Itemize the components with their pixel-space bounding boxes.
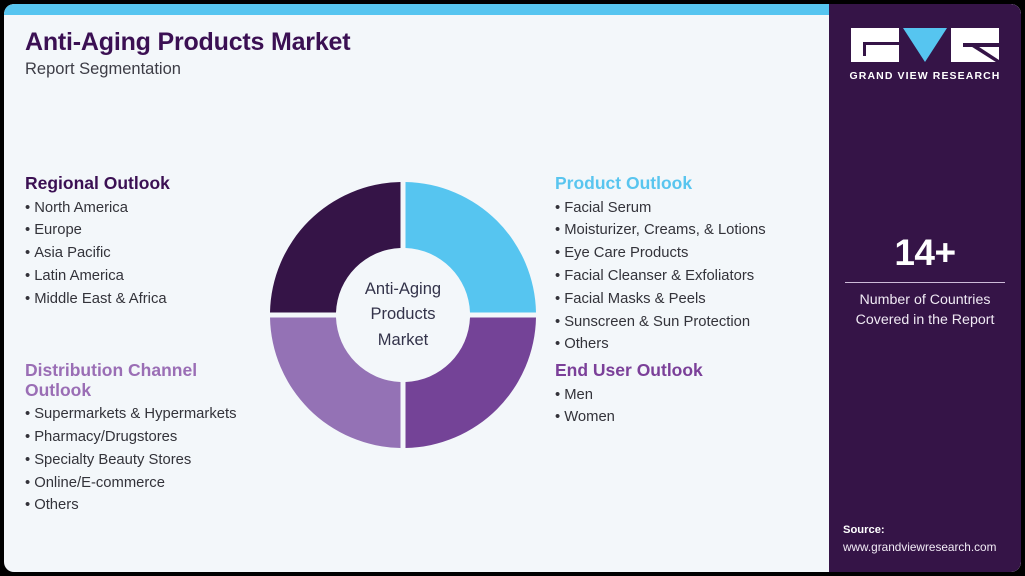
list-item-label: Pharmacy/Drugstores (34, 429, 177, 445)
donut-chart-svg (262, 174, 544, 456)
list-item-label: Supermarkets & Hypermarkets (34, 406, 236, 422)
bullet-icon: • (555, 333, 560, 356)
bullet-icon: • (555, 219, 560, 242)
regional-outlook-heading: Regional Outlook (25, 174, 170, 194)
bullet-icon: • (25, 472, 30, 495)
bullet-icon: • (555, 406, 560, 429)
list-item: •Eye Care Products (555, 242, 766, 265)
brand-logo: GRAND VIEW RESEARCH (829, 26, 1021, 82)
list-item: •Latin America (25, 265, 170, 288)
list-item-label: Europe (34, 222, 82, 238)
page-subtitle: Report Segmentation (25, 60, 625, 80)
brand-panel: GRAND VIEW RESEARCH 14+ Number of Countr… (829, 4, 1021, 572)
donut-segment-regional (270, 182, 401, 313)
bullet-icon: • (555, 265, 560, 288)
segmentation-donut-chart: Anti-Aging Products Market (262, 174, 544, 456)
bullet-icon: • (25, 426, 30, 449)
bullet-icon: • (555, 242, 560, 265)
page-title: Anti-Aging Products Market (25, 28, 625, 56)
source-label: Source: (843, 522, 1021, 539)
list-item: •Facial Cleanser & Exfoliators (555, 265, 766, 288)
stat-divider (845, 282, 1005, 284)
list-item: •Facial Serum (555, 197, 766, 220)
gvr-logo-icon (851, 26, 999, 64)
product-outlook-list: •Facial Serum •Moisturizer, Creams, & Lo… (555, 197, 766, 356)
list-item-label: Facial Serum (564, 200, 651, 216)
list-item: •Online/E-commerce (25, 472, 325, 495)
bullet-icon: • (555, 311, 560, 334)
list-item-label: Latin America (34, 268, 124, 284)
countries-stat-caption-line-2: Covered in the Report (829, 311, 1021, 330)
list-item-label: Eye Care Products (564, 245, 688, 261)
bullet-icon: • (25, 219, 30, 242)
list-item-label: North America (34, 200, 128, 216)
list-item: •Middle East & Africa (25, 288, 170, 311)
list-item: •Moisturizer, Creams, & Lotions (555, 219, 766, 242)
list-item-label: Women (564, 409, 615, 425)
end-user-outlook-block: End User Outlook •Men •Women (555, 361, 703, 429)
brand-logo-text: GRAND VIEW RESEARCH (829, 70, 1021, 82)
countries-stat-caption-line-1: Number of Countries (829, 291, 1021, 310)
list-item: •Others (555, 333, 766, 356)
list-item-label: Online/E-commerce (34, 475, 165, 491)
list-item: •Asia Pacific (25, 242, 170, 265)
donut-segment-distribution (270, 318, 401, 449)
list-item: •Others (25, 494, 325, 517)
list-item-label: Middle East & Africa (34, 291, 166, 307)
source-info: Source: www.grandviewresearch.com (843, 522, 1021, 556)
list-item: •Facial Masks & Peels (555, 288, 766, 311)
infographic-card: Anti-Aging Products Market Report Segmen… (4, 4, 1021, 572)
donut-segment-product (406, 182, 537, 313)
product-outlook-block: Product Outlook •Facial Serum •Moisturiz… (555, 174, 766, 356)
source-url[interactable]: www.grandviewresearch.com (843, 539, 1021, 556)
countries-stat-caption: Number of Countries Covered in the Repor… (829, 291, 1021, 330)
list-item: •Women (555, 406, 703, 429)
countries-stat: 14+ Number of Countries Covered in the R… (829, 234, 1021, 330)
list-item-label: Moisturizer, Creams, & Lotions (564, 222, 765, 238)
header: Anti-Aging Products Market Report Segmen… (25, 28, 625, 80)
end-user-outlook-heading: End User Outlook (555, 361, 703, 381)
list-item-label: Asia Pacific (34, 245, 110, 261)
infographic-root: Anti-Aging Products Market Report Segmen… (0, 0, 1025, 576)
bullet-icon: • (555, 197, 560, 220)
bullet-icon: • (555, 288, 560, 311)
list-item: •Men (555, 384, 703, 407)
list-item: •North America (25, 197, 170, 220)
bullet-icon: • (25, 265, 30, 288)
regional-outlook-block: Regional Outlook •North America •Europe … (25, 174, 170, 311)
list-item-label: Others (564, 336, 608, 352)
bullet-icon: • (25, 288, 30, 311)
bullet-icon: • (25, 242, 30, 265)
top-accent-strip (4, 4, 829, 15)
list-item-label: Facial Cleanser & Exfoliators (564, 268, 754, 284)
product-outlook-heading: Product Outlook (555, 174, 766, 194)
list-item: •Europe (25, 219, 170, 242)
list-item-label: Others (34, 497, 78, 513)
bullet-icon: • (25, 197, 30, 220)
donut-segment-end-user (406, 318, 537, 449)
bullet-icon: • (25, 403, 30, 426)
regional-outlook-list: •North America •Europe •Asia Pacific •La… (25, 197, 170, 311)
list-item: •Sunscreen & Sun Protection (555, 311, 766, 334)
end-user-outlook-list: •Men •Women (555, 384, 703, 430)
bullet-icon: • (25, 494, 30, 517)
bullet-icon: • (555, 384, 560, 407)
list-item-label: Specialty Beauty Stores (34, 452, 191, 468)
list-item-label: Facial Masks & Peels (564, 291, 705, 307)
list-item-label: Sunscreen & Sun Protection (564, 314, 750, 330)
list-item-label: Men (564, 387, 593, 403)
bullet-icon: • (25, 449, 30, 472)
countries-stat-number: 14+ (829, 234, 1021, 273)
